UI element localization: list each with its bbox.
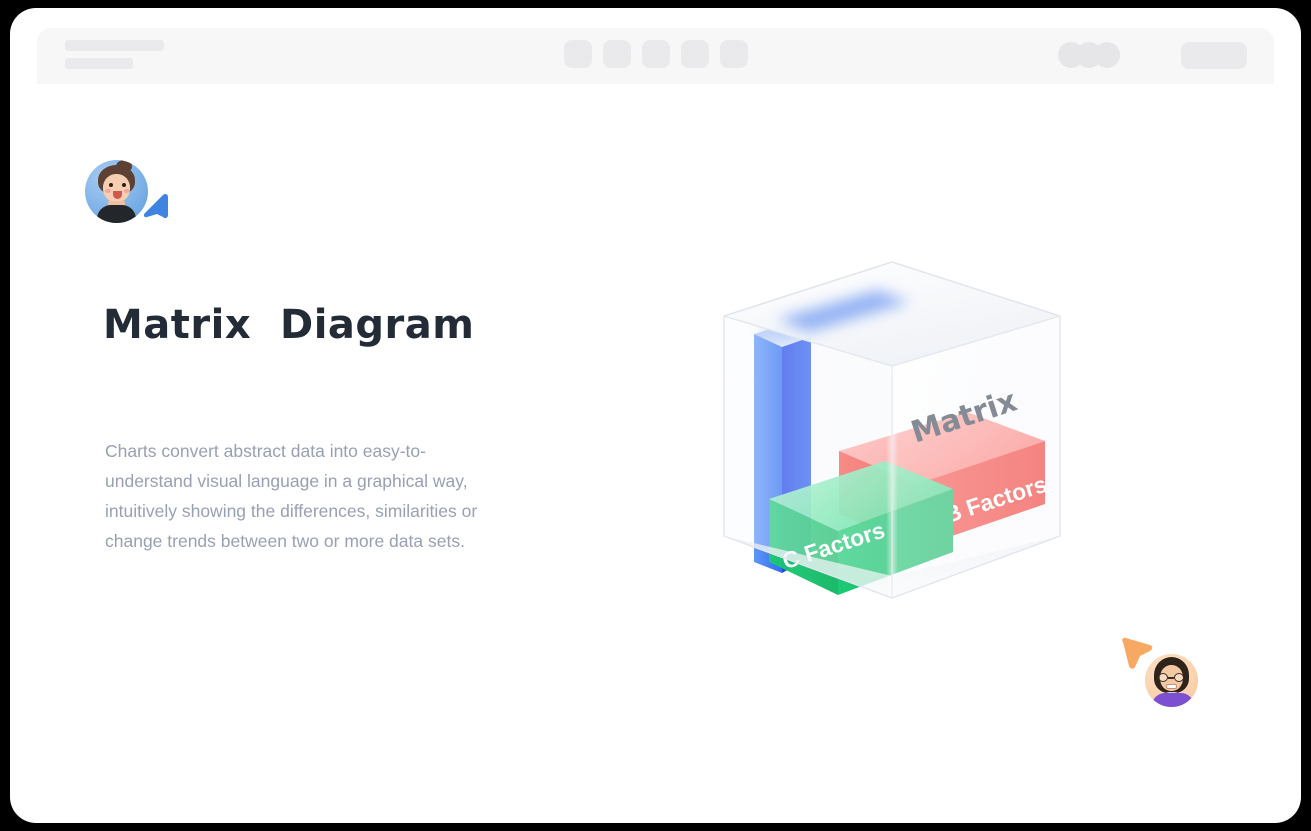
collaborator-avatar-3[interactable] <box>1094 42 1120 68</box>
subtitle-placeholder-bar <box>65 58 133 69</box>
toolbar-tool-3-button[interactable] <box>642 40 670 68</box>
presence-indicator-top <box>85 160 205 226</box>
toolbar-tool-4-button[interactable] <box>681 40 709 68</box>
title-placeholder-bar <box>65 40 164 51</box>
presence-indicator-bottom <box>1118 636 1213 714</box>
toolbar-tool-1-button[interactable] <box>564 40 592 68</box>
toolbar-tool-5-button[interactable] <box>720 40 748 68</box>
collaborator-avatar-female[interactable] <box>85 160 148 223</box>
toolbar-tool-group <box>564 40 748 68</box>
page-title: Matrix Diagram <box>103 302 474 348</box>
toolbar-tool-2-button[interactable] <box>603 40 631 68</box>
top-toolbar <box>37 28 1274 84</box>
share-button[interactable] <box>1181 42 1247 69</box>
page-description: Charts convert abstract data into easy-t… <box>105 436 487 556</box>
collaborator-avatar-glasses[interactable] <box>1143 652 1200 709</box>
toolbar-title-block <box>65 40 164 69</box>
collaborator-avatar-group[interactable] <box>1058 42 1120 68</box>
matrix-diagram-illustration: B Factors C Factors Matrix <box>705 246 1080 646</box>
app-window: Matrix Diagram Charts convert abstract d… <box>10 8 1301 823</box>
